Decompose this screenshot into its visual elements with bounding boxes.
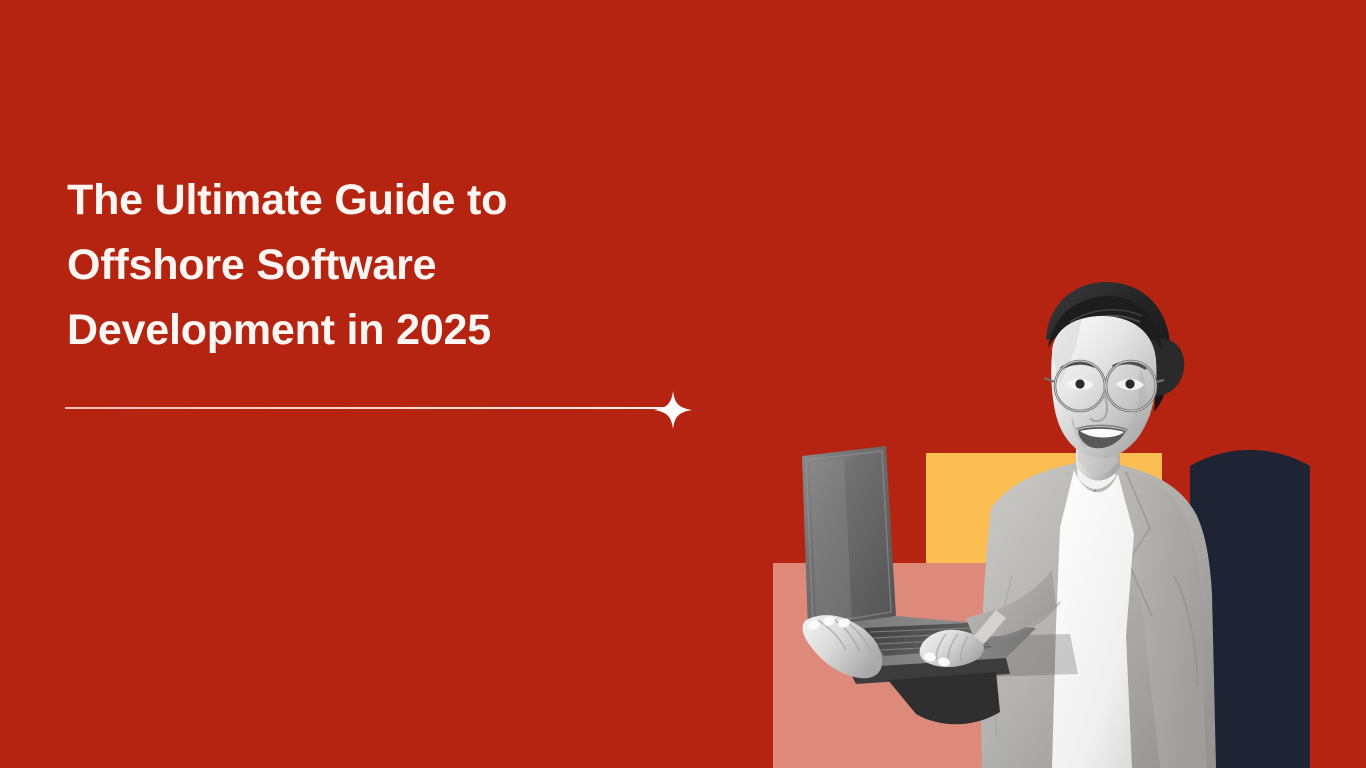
divider-line — [65, 407, 665, 409]
page-title: The Ultimate Guide to Offshore Software … — [67, 168, 687, 363]
headline-block: The Ultimate Guide to Offshore Software … — [67, 168, 687, 363]
woman-with-laptop-photo — [760, 276, 1366, 768]
divider — [65, 390, 685, 430]
hero-banner: The Ultimate Guide to Offshore Software … — [0, 0, 1366, 768]
four-point-sparkle-icon — [654, 391, 692, 429]
